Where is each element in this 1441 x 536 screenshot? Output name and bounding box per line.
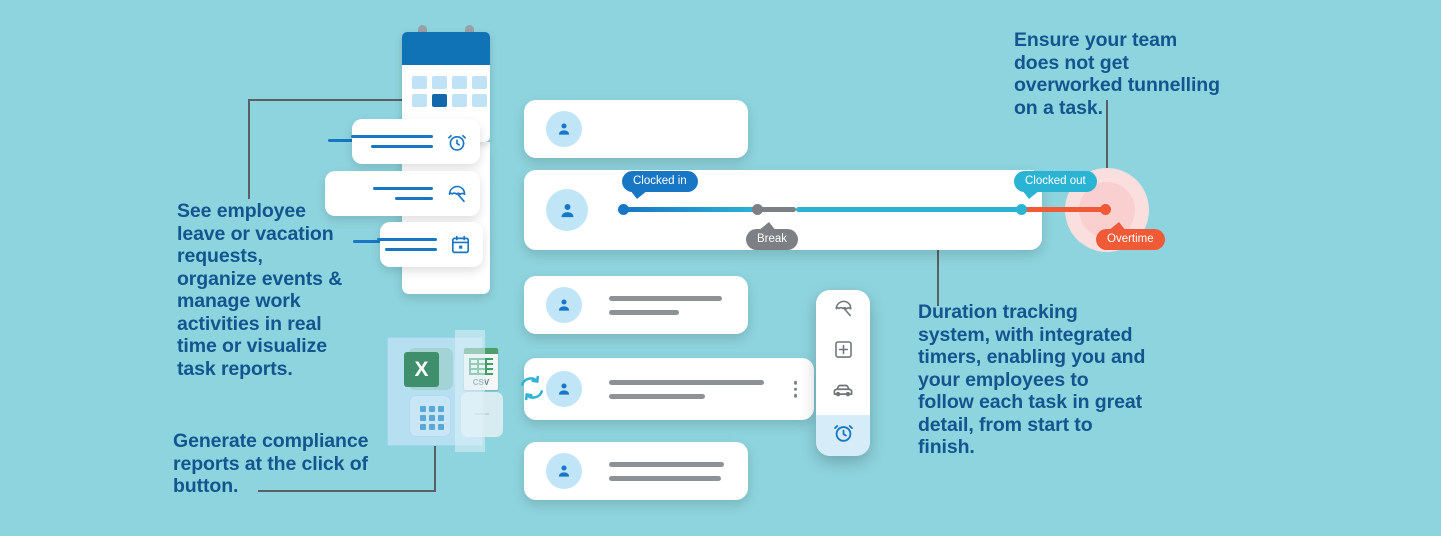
mini-card-vacation[interactable] (325, 171, 480, 216)
menu-item-sick-leave[interactable] (816, 332, 870, 374)
grid-tile[interactable] (409, 395, 451, 437)
alarm-clock-icon (446, 131, 468, 153)
employee-row-3-lines (609, 296, 722, 315)
timeline-clockout-dot[interactable] (1016, 204, 1027, 215)
timeline-overtime-dot[interactable] (1100, 204, 1111, 215)
calendar-icon (450, 234, 471, 255)
calendar-body-extension (402, 142, 490, 294)
mini-card-event-lines (377, 238, 437, 251)
person-icon (546, 287, 582, 323)
connector-compliance-vertical (434, 446, 436, 491)
mini-card-timer[interactable] (352, 119, 480, 164)
mini-card-timer-lines (351, 135, 433, 148)
compliance-annotation: Generate compliance reports at the click… (173, 430, 373, 498)
export-panel-overlay (455, 330, 485, 452)
excel-icon[interactable]: X (404, 352, 439, 387)
calendar-header (402, 32, 490, 65)
person-icon (546, 111, 582, 147)
calendar-cell[interactable] (452, 94, 467, 107)
employee-row-3[interactable] (524, 276, 748, 334)
menu-item-commute[interactable] (816, 373, 870, 415)
mini-card-event[interactable] (380, 222, 483, 267)
leave-annotation: See employee leave or vacation requests,… (177, 200, 347, 380)
timeline-start-dot[interactable] (618, 204, 629, 215)
employee-row-5-lines (609, 462, 724, 481)
overtime-badge: Overtime (1096, 229, 1165, 250)
calendar-grid (412, 76, 487, 107)
clocked-out-badge: Clocked out (1014, 171, 1097, 192)
employee-row-selected-lines (609, 380, 764, 399)
umbrella-icon (446, 183, 468, 205)
overwork-annotation: Ensure your team does not get overworked… (1014, 29, 1224, 119)
break-badge: Break (746, 229, 798, 250)
clocked-in-badge: Clocked in (622, 171, 698, 192)
person-icon (546, 453, 582, 489)
calendar-cell[interactable] (452, 76, 467, 89)
calendar-cell[interactable] (472, 94, 487, 107)
activity-type-menu[interactable] (816, 290, 870, 456)
employee-row-selected[interactable] (524, 358, 814, 420)
timeline-break-segment (758, 207, 796, 212)
timeline-work-segment (624, 207, 758, 212)
grid-icon (420, 406, 444, 430)
alarm-clock-icon (832, 421, 855, 449)
timeline-overtime-segment (1022, 207, 1106, 212)
person-icon (546, 371, 582, 407)
car-icon (832, 380, 854, 407)
illustration-canvas: X CSV (0, 0, 1441, 536)
employee-row-5[interactable] (524, 442, 748, 500)
calendar-cell[interactable] (412, 94, 427, 107)
timeline-resumed-segment (796, 207, 1022, 212)
mini-card-vacation-lines (373, 187, 433, 200)
menu-item-timer[interactable] (816, 415, 870, 457)
sync-icon[interactable] (517, 373, 547, 408)
calendar-cell[interactable] (412, 76, 427, 89)
calendar-cell[interactable] (472, 76, 487, 89)
connector-leave-vertical (248, 99, 250, 199)
timeline-break-dot[interactable] (752, 204, 763, 215)
menu-item-vacation[interactable] (816, 290, 870, 332)
medical-cross-icon (833, 339, 854, 365)
umbrella-icon (833, 298, 854, 324)
calendar-cell[interactable] (432, 76, 447, 89)
connector-leave-horizontal (248, 99, 418, 101)
person-icon (546, 189, 588, 231)
kebab-menu-icon[interactable] (794, 381, 798, 398)
employee-row-1[interactable] (524, 100, 748, 158)
duration-annotation: Duration tracking system, with integrate… (918, 301, 1148, 459)
calendar-cell-selected[interactable] (432, 94, 447, 107)
